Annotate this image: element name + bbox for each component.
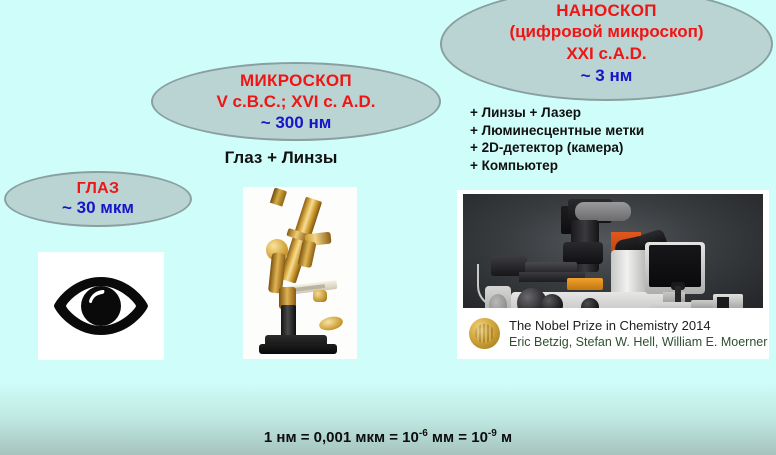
formula-part-1: 1 нм = 0,001 мкм = 10 [264,429,419,446]
eye-stage-title: ГЛАЗ [77,180,120,198]
nanoscope-stage-title: НАНОСКОП [556,1,657,21]
formula-exponent-2: -9 [488,428,497,439]
microscope-foot-lower [259,344,337,354]
formula-part-2: мм = 10 [428,429,488,446]
eye-image-card [38,252,164,360]
microscope-stage-ellipse: МИКРОСКОП V c.B.C.; XVI c. A.D. ~ 300 нм [151,62,441,141]
nobel-laureates: Eric Betzig, Stefan W. Hell, William E. … [509,334,767,350]
microscope-lens-plate [318,315,344,333]
nobel-prize-caption: The Nobel Prize in Chemistry 2014 Eric B… [463,312,763,355]
nanoscope-monitor-screen [649,245,701,287]
nobel-caption-text: The Nobel Prize in Chemistry 2014 Eric B… [509,318,767,350]
nanoscope-illuminated-panel [567,278,603,290]
nanoscope-scan-head-barrel [575,202,631,221]
antique-microscope-image-card [243,187,357,359]
nanoscope-stage-ellipse: НАНОСКОП (цифровой микроскоп) XXI c.A.D.… [440,0,773,101]
slide-canvas: ГЛАЗ ~ 30 мкм МИКРОСКОП V c.B.C.; XVI c.… [0,0,776,455]
microscope-stage-resolution: ~ 300 нм [261,112,332,133]
microscope-stage-title: МИКРОСКОП [240,71,352,91]
formula-part-3: м [497,429,512,446]
feature-item: + Люминесцентные метки [470,122,644,140]
nanoscope-stage-subtitle: (цифровой микроскоп) [509,21,703,43]
formula-exponent-1: -6 [419,428,428,439]
nanoscope-stage-era: XXI c.A.D. [566,43,646,65]
microscope-stage-era: V c.B.C.; XVI c. A.D. [216,91,375,112]
feature-item: + Линзы + Лазер [470,104,644,122]
microscope-focus-knob [313,290,327,302]
microscope-eyepiece [270,187,287,206]
nanoscope-feature-list: + Линзы + Лазер + Люминесцентные метки +… [470,104,644,174]
nanoscope-stage-resolution: ~ 3 нм [581,65,633,87]
confocal-microscope-image-card: The Nobel Prize in Chemistry 2014 Eric B… [457,190,769,359]
eye-stage-resolution: ~ 30 мкм [62,198,134,218]
confocal-microscope-photo [463,194,763,308]
nanoscope-objective-turret [563,242,603,264]
microscope-composition-caption: Глаз + Линзы [196,148,366,168]
feature-item: + Компьютер [470,157,644,175]
microscope-pillar [281,305,296,339]
eye-icon [49,271,153,341]
eye-stage-ellipse: ГЛАЗ ~ 30 мкм [4,171,192,227]
feature-item: + 2D-детектор (камера) [470,139,644,157]
nobel-medal-icon [469,318,500,349]
unit-conversion-formula: 1 нм = 0,001 мкм = 10-6 мм = 10-9 м [0,428,776,446]
nobel-prize-title: The Nobel Prize in Chemistry 2014 [509,318,767,334]
nanoscope-keyboard [647,302,695,308]
nanoscope-accessory-right-inset [717,297,729,308]
